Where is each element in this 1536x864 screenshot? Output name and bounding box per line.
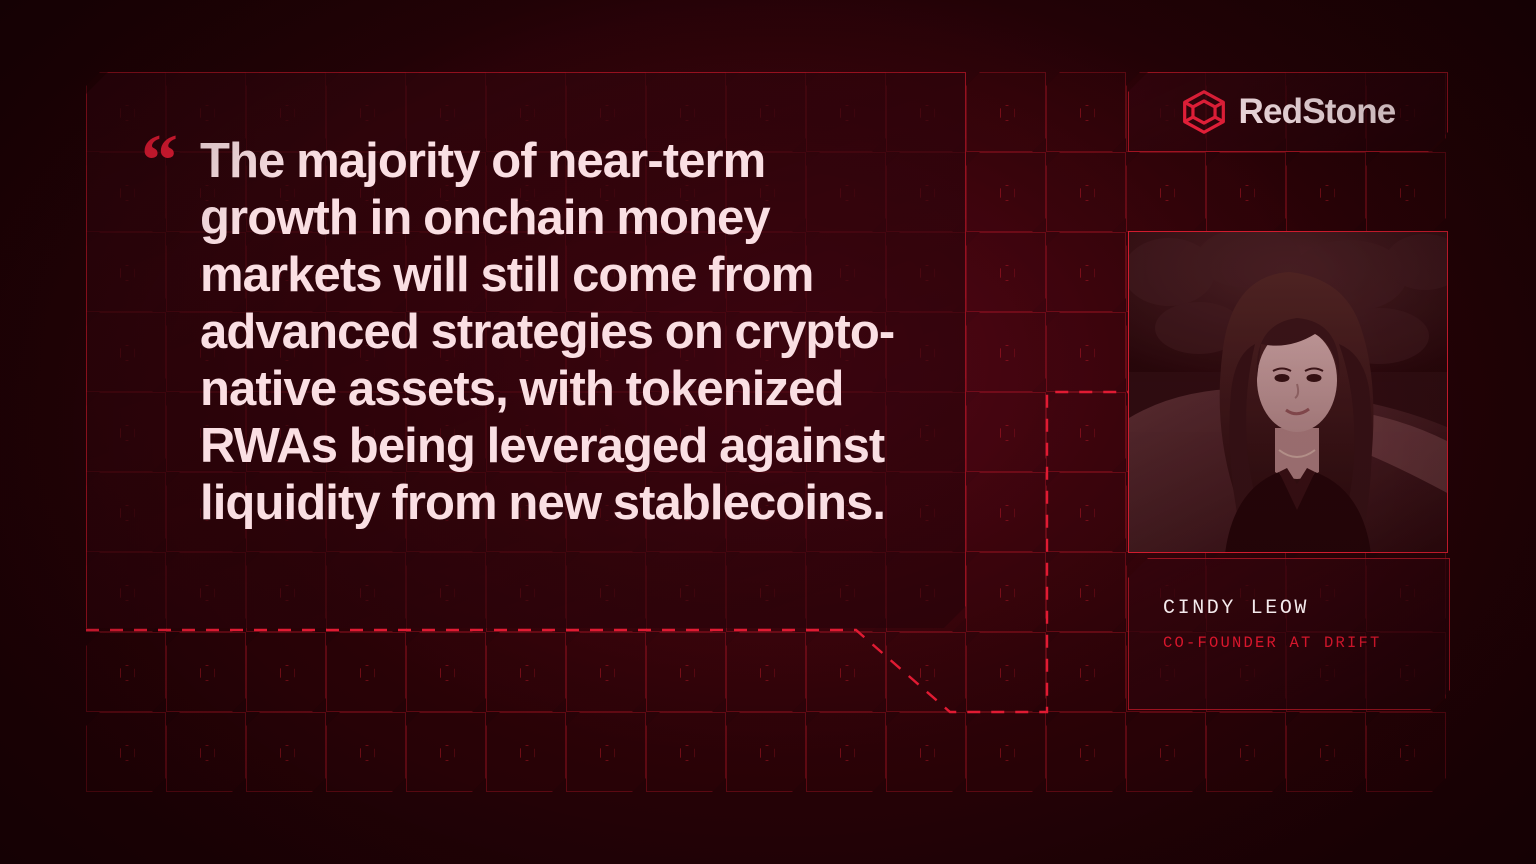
grid-cell — [726, 712, 806, 792]
grid-cell — [1126, 152, 1206, 232]
grid-cell — [1286, 712, 1366, 792]
person-role: CO-FOUNDER AT DRIFT — [1163, 634, 1449, 652]
grid-cell — [1046, 472, 1126, 552]
brand-logo-card: RedStone — [1128, 72, 1448, 152]
grid-cell — [246, 712, 326, 792]
grid-cell — [1206, 712, 1286, 792]
grid-cell — [1046, 72, 1126, 152]
grid-cell — [1046, 392, 1126, 472]
portrait-photo — [1128, 231, 1448, 553]
grid-cell — [1126, 712, 1206, 792]
grid-cell — [886, 712, 966, 792]
grid-cell — [646, 632, 726, 712]
grid-cell — [166, 712, 246, 792]
quote-text: The majority of near-term growth in onch… — [200, 133, 925, 532]
grid-cell — [1046, 312, 1126, 392]
person-name: CINDY LEOW — [1163, 597, 1449, 620]
grid-cell — [406, 712, 486, 792]
brand-name: RedStone — [1239, 92, 1396, 132]
grid-cell — [966, 392, 1046, 472]
grid-cell — [1046, 232, 1126, 312]
grid-cell — [966, 72, 1046, 152]
grid-cell — [326, 632, 406, 712]
quote-content: “ The majority of near-term growth in on… — [141, 133, 925, 532]
grid-cell — [1046, 152, 1126, 232]
grid-cell — [1286, 152, 1366, 232]
grid-cell — [246, 632, 326, 712]
grid-cell — [966, 632, 1046, 712]
grid-cell — [566, 712, 646, 792]
grid-cell — [966, 312, 1046, 392]
grid-cell — [966, 232, 1046, 312]
person-info-card: CINDY LEOW CO-FOUNDER AT DRIFT — [1128, 558, 1450, 710]
grid-cell — [566, 632, 646, 712]
quote-card-canvas: “ The majority of near-term growth in on… — [0, 0, 1536, 864]
grid-cell — [166, 632, 246, 712]
grid-cell — [1366, 152, 1446, 232]
grid-cell — [1046, 632, 1126, 712]
grid-cell — [1206, 152, 1286, 232]
quote-mark-icon: “ — [141, 139, 176, 183]
quote-panel: “ The majority of near-term growth in on… — [86, 72, 966, 628]
redstone-hexagon-gem-icon — [1181, 89, 1227, 135]
grid-cell — [966, 152, 1046, 232]
grid-cell — [1366, 712, 1446, 792]
grid-cell — [966, 712, 1046, 792]
grid-cell — [326, 712, 406, 792]
grid-cell — [1046, 552, 1126, 632]
grid-cell — [486, 712, 566, 792]
grid-cell — [86, 712, 166, 792]
grid-cell — [646, 712, 726, 792]
grid-cell — [966, 472, 1046, 552]
grid-cell — [966, 552, 1046, 632]
grid-cell — [486, 632, 566, 712]
grid-cell — [406, 632, 486, 712]
grid-cell — [726, 632, 806, 712]
grid-cell — [806, 632, 886, 712]
grid-cell — [886, 632, 966, 712]
grid-cell — [1046, 712, 1126, 792]
grid-cell — [86, 632, 166, 712]
grid-cell — [806, 712, 886, 792]
